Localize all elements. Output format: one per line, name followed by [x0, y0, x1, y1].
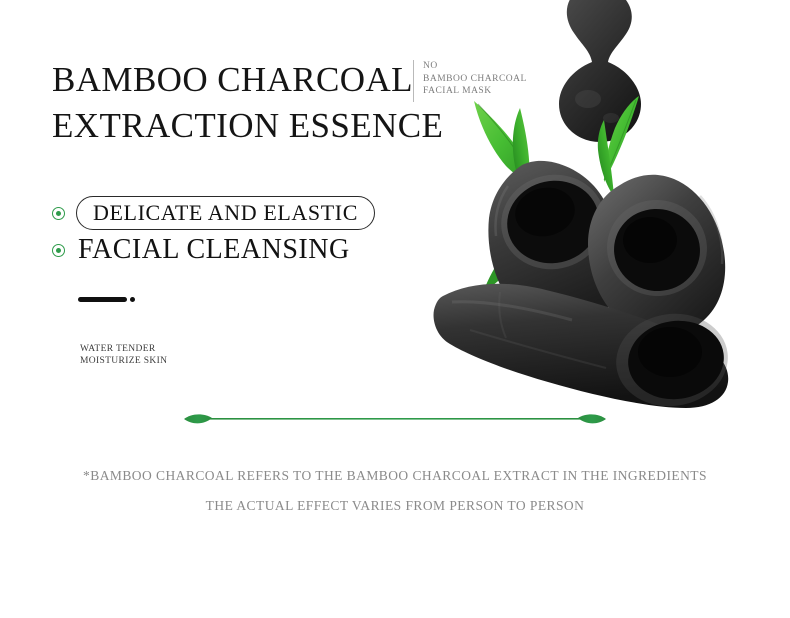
headline-block: BAMBOO CHARCOAL EXTRACTION ESSENCE	[52, 57, 412, 149]
sub-caption-line-1: WATER TENDER	[80, 344, 167, 356]
side-caption-line-3: FACIAL MASK	[423, 85, 527, 98]
product-banner: BAMBOO CHARCOAL EXTRACTION ESSENCE NO BA…	[0, 0, 790, 618]
feature-item-cleansing: FACIAL CLEANSING	[52, 234, 350, 266]
side-caption-line-1: NO	[423, 60, 527, 73]
side-caption: NO BAMBOO CHARCOAL FACIAL MASK	[423, 60, 527, 98]
headline-line-2: EXTRACTION ESSENCE	[52, 103, 412, 149]
feature-label-cleansing: FACIAL CLEANSING	[78, 234, 350, 266]
dot-mark-icon	[130, 297, 135, 302]
side-caption-divider	[413, 60, 414, 102]
dash-mark-icon	[78, 297, 127, 302]
headline-line-1: BAMBOO CHARCOAL	[52, 57, 412, 103]
footnote-line-2: THE ACTUAL EFFECT VARIES FROM PERSON TO …	[0, 491, 790, 521]
bamboo-leaf-icon	[474, 96, 639, 290]
feature-item-delicate: DELICATE AND ELASTIC	[52, 196, 375, 230]
sub-caption: WATER TENDER MOISTURIZE SKIN	[80, 344, 167, 367]
charcoal-ink-drop-icon	[559, 0, 641, 142]
footnote-line-1: *BAMBOO CHARCOAL REFERS TO THE BAMBOO CH…	[0, 461, 790, 491]
feature-label-delicate: DELICATE AND ELASTIC	[76, 196, 375, 230]
green-ring-dot-icon	[52, 244, 65, 257]
leaf-divider	[184, 414, 606, 423]
side-caption-line-2: BAMBOO CHARCOAL	[423, 73, 527, 86]
sub-caption-line-2: MOISTURIZE SKIN	[80, 356, 167, 368]
green-ring-dot-icon	[52, 207, 65, 220]
footnote-block: *BAMBOO CHARCOAL REFERS TO THE BAMBOO CH…	[0, 461, 790, 521]
bamboo-charcoal-tubes-image	[434, 161, 734, 414]
